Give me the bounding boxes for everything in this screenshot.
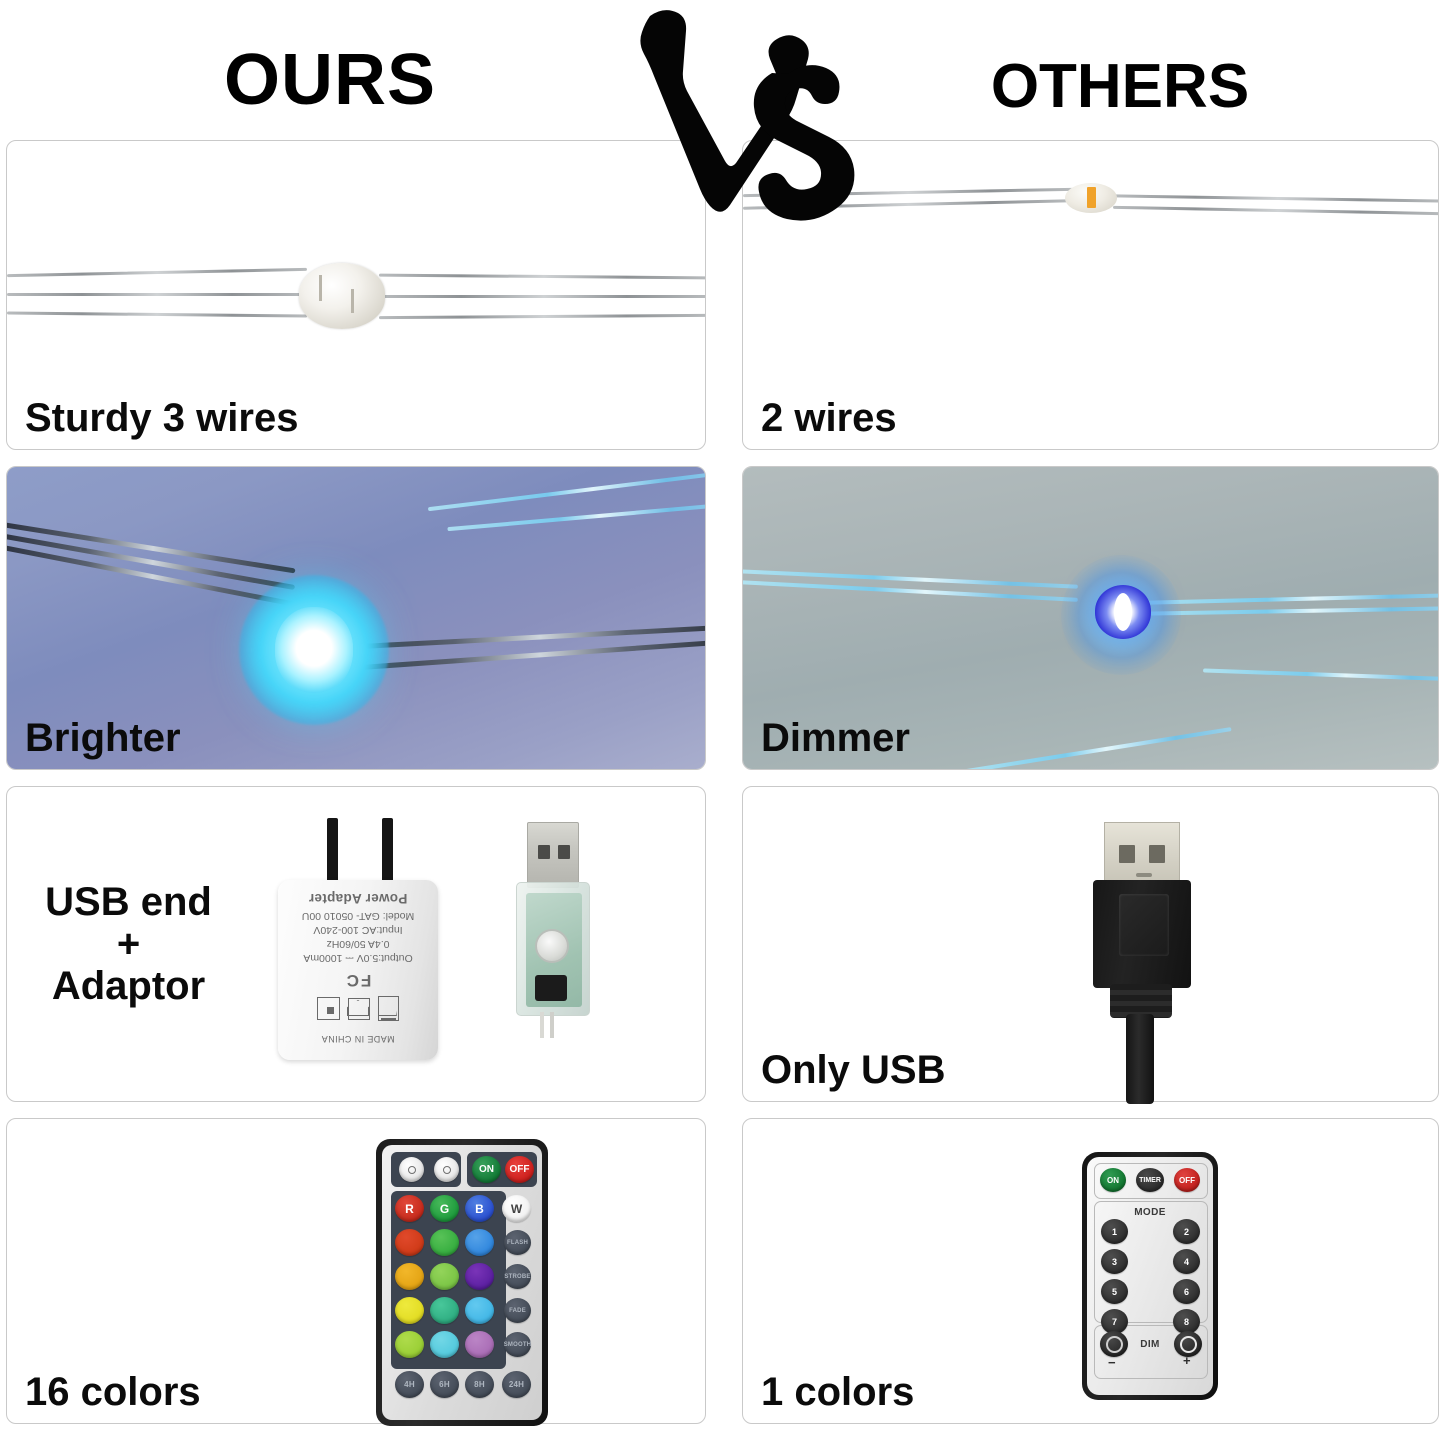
remote-44key[interactable]: ON OFF R G B W FLASH STROBE FADE SM	[376, 1139, 548, 1426]
caption-others-wires: 2 wires	[761, 397, 897, 439]
panel-ours-remote: 16 colors	[6, 1118, 706, 1424]
house-icon	[348, 998, 370, 1020]
power-off-button[interactable]: OFF	[1174, 1168, 1200, 1192]
color-swatch[interactable]	[395, 1297, 424, 1324]
power-adapter: MADE IN CHINA FC Output:5.0V ⎓ 1000mA 0.…	[278, 880, 438, 1060]
power-on-button[interactable]: ON	[1100, 1168, 1126, 1192]
dim-plus-label: +	[1183, 1353, 1191, 1368]
mode-button-6[interactable]: 6	[1173, 1279, 1200, 1304]
color-swatch[interactable]	[395, 1229, 424, 1256]
caption-ours-remote: 16 colors	[25, 1371, 201, 1413]
controller-button[interactable]	[535, 929, 569, 963]
adapter-model: Model: GAT- 05010 00U	[278, 910, 438, 922]
adapter-output: Output:5.0V ⎓ 1000mA	[278, 951, 438, 964]
color-swatch[interactable]	[430, 1297, 459, 1324]
brightness-up-icon[interactable]	[399, 1157, 424, 1182]
usb-controller	[516, 822, 590, 1032]
color-button-r[interactable]: R	[395, 1195, 424, 1222]
color-swatch[interactable]	[395, 1263, 424, 1290]
color-button-w[interactable]: W	[502, 1195, 531, 1222]
power-on-button[interactable]: ON	[472, 1156, 501, 1183]
adapter-cert-marks: FC	[278, 970, 438, 990]
usb-controller-body	[516, 882, 590, 1016]
dim-minus-label: −	[1108, 1355, 1116, 1370]
led-bead	[1065, 183, 1117, 213]
usb-plug	[1088, 822, 1196, 1062]
comparison-infographic: OURS OTHERS Sturdy 3 wires	[0, 0, 1445, 1430]
adapter-title: Power Adapter	[278, 891, 438, 906]
effect-button-fade[interactable]: FADE	[504, 1298, 531, 1323]
mode-button-3[interactable]: 3	[1101, 1249, 1128, 1274]
timer-button[interactable]: TIMER	[1136, 1168, 1164, 1192]
usb-shell	[1093, 880, 1191, 988]
color-button-b[interactable]: B	[465, 1195, 494, 1222]
wire-lead	[550, 1012, 554, 1038]
mode-button-2[interactable]: 2	[1173, 1219, 1200, 1244]
mode-button-1[interactable]: 1	[1101, 1219, 1128, 1244]
strain-relief	[1110, 984, 1172, 1018]
caption-others-remote: 1 colors	[761, 1371, 914, 1413]
caption-others-brightness: Dimmer	[761, 717, 910, 759]
caption-ours-power: USB end + Adaptor	[21, 881, 236, 1007]
led-bead	[299, 263, 385, 329]
color-swatch[interactable]	[465, 1229, 494, 1256]
wheelie-bin-icon	[378, 997, 399, 1022]
remote-17key[interactable]: ON TIMER OFF MODE 1 2 3 4 5 6 7 8 DIM − …	[1082, 1152, 1218, 1400]
adapter-input: Input:AC 100-240V	[278, 924, 438, 936]
vs-badge	[612, 2, 872, 250]
panel-ours-wires: Sturdy 3 wires	[6, 140, 706, 450]
color-swatch[interactable]	[430, 1331, 459, 1358]
color-swatch[interactable]	[395, 1331, 424, 1358]
dim-label: DIM	[1087, 1339, 1213, 1350]
effect-button-flash[interactable]: FLASH	[504, 1230, 531, 1255]
timer-button-4h[interactable]: 4H	[395, 1371, 424, 1398]
panel-ours-brightness: Brighter	[6, 466, 706, 770]
wire-lead	[540, 1012, 544, 1038]
power-off-button[interactable]: OFF	[505, 1156, 534, 1183]
effect-button-smooth[interactable]: SMOOTH	[504, 1332, 531, 1357]
panel-others-brightness: Dimmer	[742, 466, 1439, 770]
usb-trident-icon	[1119, 894, 1169, 956]
timer-button-8h[interactable]: 8H	[465, 1371, 494, 1398]
color-swatch[interactable]	[430, 1263, 459, 1290]
color-swatch[interactable]	[465, 1331, 494, 1358]
effect-button-strobe[interactable]: STROBE	[504, 1264, 531, 1289]
mode-button-5[interactable]: 5	[1101, 1279, 1128, 1304]
adapter-hz: 0.4A 50/60Hz	[278, 938, 438, 950]
usb-cable	[1126, 1014, 1154, 1104]
mode-label: MODE	[1087, 1207, 1213, 1218]
color-button-g[interactable]: G	[430, 1195, 459, 1222]
color-swatch[interactable]	[465, 1297, 494, 1324]
led-bead-lit	[275, 607, 353, 693]
adapter-made-in: MADE IN CHINA	[278, 1034, 438, 1044]
caption-others-power: Only USB	[761, 1049, 945, 1091]
remote-face: ON TIMER OFF MODE 1 2 3 4 5 6 7 8 DIM − …	[1087, 1157, 1213, 1395]
led-bead-lit	[1095, 585, 1151, 639]
adapter-symbols	[278, 992, 438, 1026]
usb-connector-icon	[527, 822, 579, 888]
caption-ours-wires: Sturdy 3 wires	[25, 397, 298, 439]
class2-icon	[317, 998, 340, 1021]
timer-button-24h[interactable]: 24H	[502, 1371, 531, 1398]
color-swatch[interactable]	[465, 1263, 494, 1290]
timer-button-6h[interactable]: 6H	[430, 1371, 459, 1398]
usb-connector-icon	[1104, 822, 1180, 884]
mode-button-4[interactable]: 4	[1173, 1249, 1200, 1274]
ir-receiver-icon	[535, 975, 567, 1001]
color-swatch[interactable]	[430, 1229, 459, 1256]
brightness-down-icon[interactable]	[434, 1157, 459, 1182]
caption-ours-brightness: Brighter	[25, 717, 181, 759]
remote-face: ON OFF R G B W FLASH STROBE FADE SM	[382, 1145, 542, 1420]
